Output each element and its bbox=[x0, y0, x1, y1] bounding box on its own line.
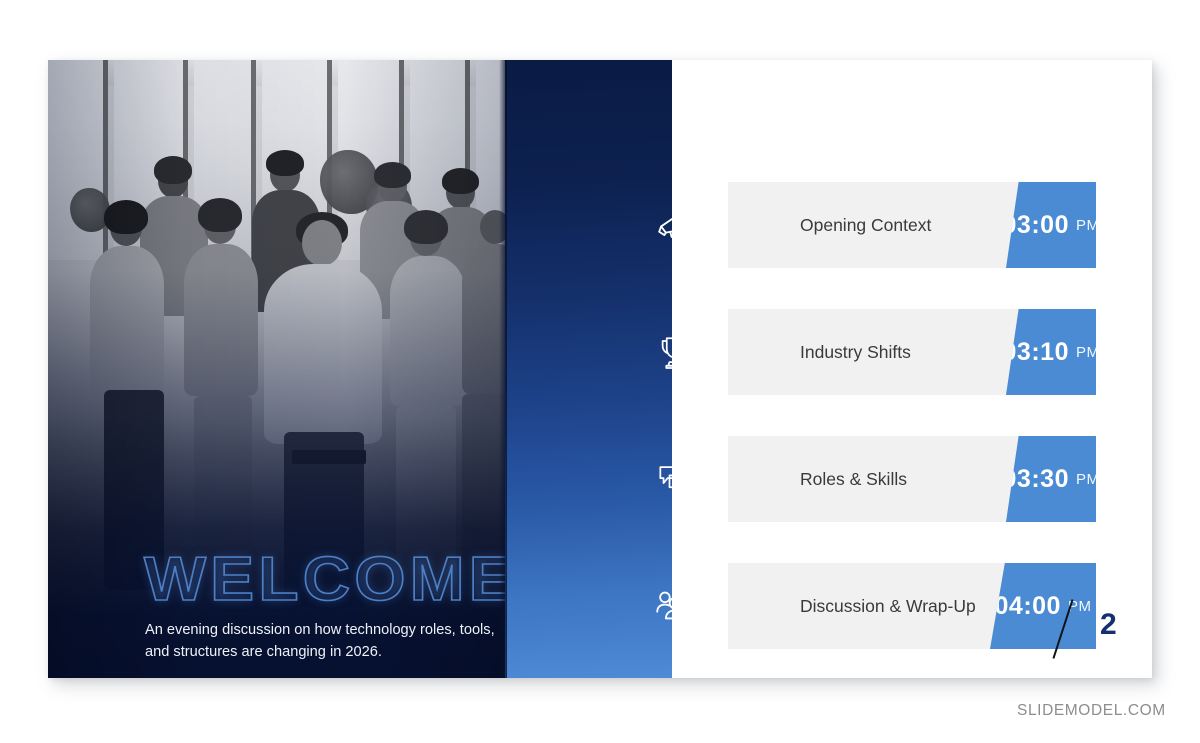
agenda-item-label: Roles & Skills bbox=[800, 436, 907, 522]
agenda-time-value: 04:00 bbox=[995, 592, 1061, 621]
agenda-item-label: Opening Context bbox=[800, 182, 931, 268]
screenshot-canvas: WELCOME An evening discussion on how tec… bbox=[0, 0, 1200, 743]
list-item[interactable]: Opening Context 03:00 PM bbox=[672, 182, 1096, 268]
list-item[interactable]: Roles & Skills 03:30 PM bbox=[672, 436, 1096, 522]
agenda-item-time: 03:30 PM bbox=[1006, 436, 1096, 522]
list-item[interactable]: Discussion & Wrap-Up 04:00 PM bbox=[672, 563, 1096, 649]
watermark-label: SLIDEMODEL.COM bbox=[1017, 702, 1166, 720]
megaphone-icon bbox=[624, 172, 726, 278]
agenda-item-label: Discussion & Wrap-Up bbox=[800, 563, 976, 649]
agenda-list: Opening Context 03:00 PM bbox=[48, 60, 1152, 678]
agenda-item-time: 03:00 PM bbox=[1006, 182, 1096, 268]
agenda-time-meridiem: PM bbox=[1076, 217, 1100, 234]
agenda-item-label: Industry Shifts bbox=[800, 309, 911, 395]
agenda-time-meridiem: PM bbox=[1076, 471, 1100, 488]
agenda-time-meridiem: PM bbox=[1076, 344, 1100, 361]
presentation-slide: WELCOME An evening discussion on how tec… bbox=[48, 60, 1152, 678]
page-number: 2 bbox=[1100, 608, 1117, 642]
page-number-group: 2 bbox=[1058, 598, 1150, 660]
agenda-item-time: 03:10 PM bbox=[1006, 309, 1096, 395]
list-item[interactable]: Industry Shifts 03:10 PM bbox=[672, 309, 1096, 395]
speech-bubbles-icon bbox=[624, 426, 726, 532]
trophy-icon bbox=[624, 299, 726, 405]
people-group-icon bbox=[624, 553, 726, 659]
